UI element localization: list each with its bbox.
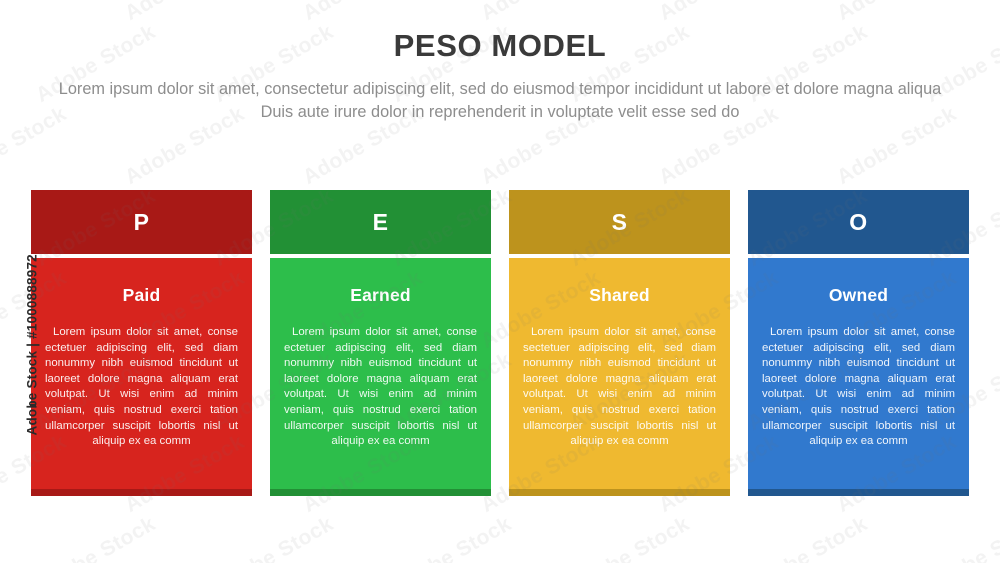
- card-header: P: [31, 190, 252, 254]
- page-title: PESO MODEL: [0, 28, 1000, 64]
- card-footer-bar: [509, 489, 730, 496]
- card-title: Owned: [762, 285, 955, 306]
- peso-card-earned[interactable]: EEarnedLorem ipsum dolor sit amet, conse…: [270, 190, 491, 496]
- card-body: EarnedLorem ipsum dolor sit amet, conse …: [270, 258, 491, 496]
- peso-card-owned[interactable]: OOwnedLorem ipsum dolor sit amet, conse …: [748, 190, 969, 496]
- card-letter: P: [134, 209, 150, 236]
- card-header: O: [748, 190, 969, 254]
- card-body: PaidLorem ipsum dolor sit amet, conse ec…: [31, 258, 252, 496]
- card-description: Lorem ipsum dolor sit amet, conse ectetu…: [45, 325, 238, 450]
- watermark-text: Adobe Stock: [744, 512, 872, 563]
- card-footer-bar: [270, 489, 491, 496]
- card-header: S: [509, 190, 730, 254]
- watermark-text: Adobe Stock: [922, 512, 1000, 563]
- card-description: Lorem ipsum dolor sit amet, conse ectetu…: [762, 325, 955, 450]
- watermark-text: Adobe Stock: [210, 512, 338, 563]
- card-letter: E: [373, 209, 389, 236]
- adobe-stock-credit: Adobe Stock | #1000888972: [0, 0, 34, 563]
- card-letter: S: [612, 209, 628, 236]
- watermark-text: Adobe Stock: [655, 0, 783, 26]
- card-footer-bar: [748, 489, 969, 496]
- card-description: Lorem ipsum dolor sit amet, conse sectet…: [523, 325, 716, 450]
- page-subtitle: Lorem ipsum dolor sit amet, consectetur …: [50, 78, 950, 124]
- slide-canvas: PESO MODEL Lorem ipsum dolor sit amet, c…: [0, 0, 1000, 563]
- watermark-text: Adobe Stock: [566, 512, 694, 563]
- card-header: E: [270, 190, 491, 254]
- watermark-text: Adobe Stock: [833, 0, 961, 26]
- card-footer-bar: [31, 489, 252, 496]
- card-title: Earned: [284, 285, 477, 306]
- peso-card-shared[interactable]: SSharedLorem ipsum dolor sit amet, conse…: [509, 190, 730, 496]
- card-title: Paid: [45, 285, 238, 306]
- card-title: Shared: [523, 285, 716, 306]
- watermark-text: Adobe Stock: [477, 0, 605, 26]
- card-body: SharedLorem ipsum dolor sit amet, conse …: [509, 258, 730, 496]
- watermark-text: Adobe Stock: [299, 0, 427, 26]
- peso-card-paid[interactable]: PPaidLorem ipsum dolor sit amet, conse e…: [31, 190, 252, 496]
- watermark-text: Adobe Stock: [32, 512, 160, 563]
- card-body: OwnedLorem ipsum dolor sit amet, conse e…: [748, 258, 969, 496]
- card-description: Lorem ipsum dolor sit amet, conse ectetu…: [284, 325, 477, 450]
- watermark-text: Adobe Stock: [388, 512, 516, 563]
- card-letter: O: [849, 209, 867, 236]
- credit-label: Adobe Stock | #1000888972: [25, 136, 40, 436]
- peso-card-row: PPaidLorem ipsum dolor sit amet, conse e…: [31, 190, 969, 496]
- watermark-text: Adobe Stock: [121, 0, 249, 26]
